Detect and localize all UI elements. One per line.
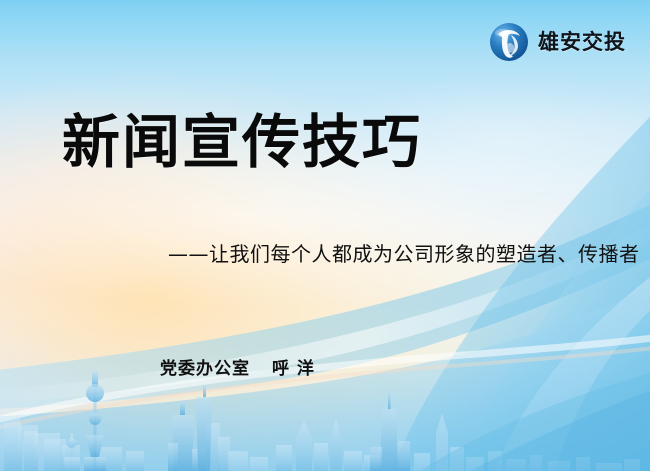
city-skyline-silhouette [0, 361, 650, 471]
brand-logo-text: 雄安交投 [538, 32, 626, 53]
title-slide: 雄安交投 新闻宣传技巧 ——让我们每个人都成为公司形象的塑造者、传播者 党委办公… [0, 0, 650, 471]
byline-department: 党委办公室 [160, 359, 250, 379]
brand-logo: 雄安交投 [489, 22, 626, 62]
slide-subtitle: ——让我们每个人都成为公司形象的塑造者、传播者 [168, 238, 640, 267]
slide-byline: 党委办公室呼 洋 [160, 354, 315, 379]
xiongan-jiaotou-emblem-icon [489, 22, 529, 62]
slide-title: 新闻宣传技巧 [62, 109, 422, 176]
byline-presenter: 呼 洋 [272, 359, 315, 379]
